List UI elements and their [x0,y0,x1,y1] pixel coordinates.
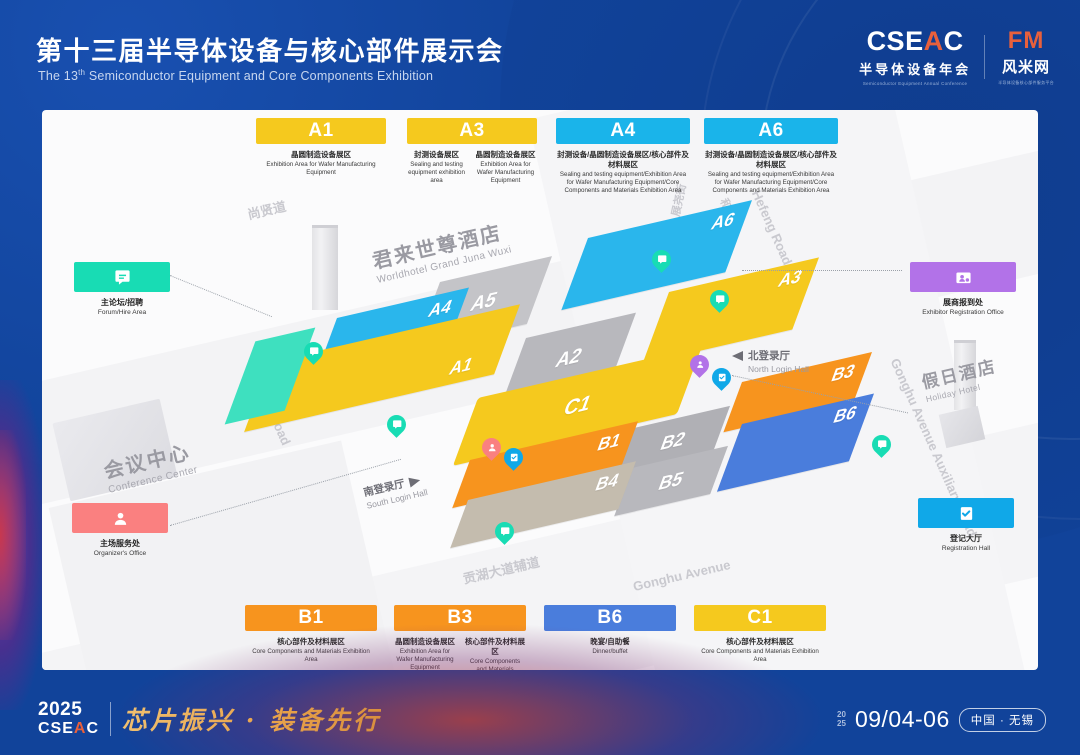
legend-chip-a6[interactable]: A6 封测设备/晶圆制造设备展区/核心部件及材料展区 Sealing and t… [704,118,838,195]
clipboard-check-icon [708,364,735,391]
facility-chip-organizer[interactable]: 主场服务处 Organizer's Office [72,503,168,557]
page-footer: 2025 CSEAC 芯片振兴 · 装备先行 20 25 09/04-06 中国… [0,670,1080,755]
speech-bubble-icon [491,518,518,545]
arrow-left-icon [732,351,743,361]
footer-year-brand: 2025 CSEAC [38,700,99,737]
map-pin-forum-a4[interactable] [304,342,323,367]
speech-bubble-icon [383,411,410,438]
page-header: 第十三届半导体设备与核心部件展示会 The 13th Semiconductor… [0,0,1080,108]
entry-north-login-hall: 北登录厅 North Login Hall [732,348,809,374]
legend-desc-group-a4: 封测设备/晶圆制造设备展区/核心部件及材料展区 Sealing and test… [556,150,690,195]
fm-logo: FM 风米网 半导体设备核心部件服务平台 [998,29,1054,86]
map-pin-forum-a6[interactable] [652,250,671,275]
road-label-shangxian: 尚贤道 [245,196,287,223]
hall-code: A2 [552,344,585,374]
map-pin-exhibitor-registration[interactable] [690,355,709,380]
fm-logo-cn: 风米网 [998,56,1054,77]
map-pin-registration-south[interactable] [504,448,523,473]
page-title-cn: 第十三届半导体设备与核心部件展示会 [36,31,504,68]
legend-desc-group-a1: 晶圆制造设备展区 Exhibition Area for Wafer Manuf… [256,150,386,177]
building-worldhotel [312,225,338,310]
cseac-logo-sub: Semiconductor Equipment Annual Conferenc… [859,81,971,86]
facility-chip-exhibitor[interactable]: 展商报到处 Exhibitor Registration Office [910,262,1016,316]
map-pin-forum-a3[interactable] [710,290,729,315]
legend-desc-en: Sealing and testing equipment/Exhibition… [557,171,689,195]
legend-desc-en: Exhibition Area for Wafer Manufacturing … [256,161,386,177]
fm-logo-sub: 半导体设备核心部件服务平台 [998,80,1054,86]
map-pin-forum-b1[interactable] [495,522,514,547]
connector-line-forum [170,275,272,317]
facility-en-exhibitor: Exhibitor Registration Office [910,309,1016,316]
footer-slogan: 芯片振兴 · 装备先行 [122,701,381,737]
cseac-mark-accent: A [924,26,944,56]
clipboard-check-icon [500,444,527,471]
cseac-logo: CSEAC 半导体设备年会 Semiconductor Equipment An… [859,28,971,86]
entry-en: North Login Hall [732,364,809,374]
map-pin-forum-b6[interactable] [872,435,891,460]
footer-brand: CSEAC [38,721,99,737]
legend-desc-en: Sealing and testing equipment/Exhibition… [705,171,837,195]
facility-icon-box-organizer [72,503,168,533]
hall-code: C1 [560,391,595,422]
exhibition-floor-plan-page: 第十三届半导体设备与核心部件展示会 The 13th Semiconductor… [0,0,1080,755]
legend-desc-a4-0: 封测设备/晶圆制造设备展区/核心部件及材料展区 Sealing and test… [557,150,689,195]
legend-desc-a6-0: 封测设备/晶圆制造设备展区/核心部件及材料展区 Sealing and test… [705,150,837,195]
legend-desc-en: Sealing and testing equipment exhibition… [407,161,466,185]
registration-icon [955,269,972,286]
legend-chip-a4[interactable]: A4 封测设备/晶圆制造设备展区/核心部件及材料展区 Sealing and t… [556,118,690,195]
legend-desc-cn: 晶圆制造设备展区 [474,150,537,160]
facility-cn-forum: 主论坛/招聘 [74,297,170,308]
facility-icon-box-exhibitor [910,262,1016,292]
legend-desc-a3-0: 封测设备展区 Sealing and testing equipment exh… [407,150,466,185]
legend-code-a4: A4 [556,118,690,144]
facility-chip-forum[interactable]: 主论坛/招聘 Forum/Hire Area [74,262,170,316]
speech-bubble-icon [706,286,733,313]
legend-desc-group-a3: 封测设备展区 Sealing and testing equipment exh… [407,150,537,185]
legend-chip-a1[interactable]: A1 晶圆制造设备展区 Exhibition Area for Wafer Ma… [256,118,386,177]
facility-icon-box-reg-hall [918,498,1014,528]
footer-divider [110,702,111,736]
legend-desc-cn: 封测设备/晶圆制造设备展区/核心部件及材料展区 [705,150,837,170]
cseac-mark-a: CSE [867,26,924,56]
footer-date-group: 20 25 09/04-06 中国 · 无锡 [837,706,1046,733]
facility-en-forum: Forum/Hire Area [74,309,170,316]
footer-brand-accent: A [74,720,87,737]
fm-wordmark: FM [998,29,1054,53]
speech-bubble-icon [648,246,675,273]
map-pin-organizer-office[interactable] [482,438,501,463]
speech-bubble-icon [114,269,131,286]
registration-icon [686,351,713,378]
speech-bubble-icon [300,338,327,365]
entry-cn: 北登录厅 [748,348,790,363]
facility-chip-registration-hall[interactable]: 登记大厅 Registration Hall [918,498,1014,552]
facility-cn-reg-hall: 登记大厅 [918,533,1014,544]
legend-code-a6: A6 [704,118,838,144]
footer-year-small: 20 25 [837,711,846,728]
place-cn: 君来世尊酒店 [369,215,510,274]
connector-line-exhibitor [742,270,902,271]
floor-plan-map[interactable]: 尚贤道 展尧街 Zhenze Road Hefeng Road 和风路 Gong… [42,110,1038,670]
logo-divider [984,35,985,79]
cseac-logo-cn: 半导体设备年会 [859,59,971,78]
legend-desc-group-a6: 封测设备/晶圆制造设备展区/核心部件及材料展区 Sealing and test… [704,150,838,195]
legend-chip-a3[interactable]: A3 封测设备展区 Sealing and testing equipment … [407,118,537,185]
background-edge-red [0,430,26,640]
entry-south-login-hall: 南登录厅 South Login Hall [362,471,429,510]
arrow-right-icon [408,475,421,487]
legend-desc-a3-1: 晶圆制造设备展区 Exhibition Area for Wafer Manuf… [474,150,537,185]
legend-code-a1: A1 [256,118,386,144]
footer-brand-a: CSE [38,720,74,737]
legend-code-a3: A3 [407,118,537,144]
hall-code: B2 [657,427,689,455]
legend-desc-cn: 封测设备展区 [407,150,466,160]
logo-group: CSEAC 半导体设备年会 Semiconductor Equipment An… [859,28,1054,86]
footer-year: 2025 [38,700,99,719]
speech-bubble-icon [868,431,895,458]
footer-city-badge: 中国 · 无锡 [959,708,1046,732]
cseac-wordmark: CSEAC [859,28,971,55]
footer-year-small-bottom: 25 [837,720,846,728]
clipboard-check-icon [958,505,975,522]
facility-en-reg-hall: Registration Hall [918,545,1014,552]
footer-brand-group: 2025 CSEAC 芯片振兴 · 装备先行 [38,700,381,737]
map-pin-forum-a1[interactable] [387,415,406,440]
cseac-mark-b: C [944,26,964,56]
facility-icon-box-forum [74,262,170,292]
map-pin-registration-north[interactable] [712,368,731,393]
legend-desc-a1-0: 晶圆制造设备展区 Exhibition Area for Wafer Manuf… [256,150,386,177]
legend-desc-cn: 封测设备/晶圆制造设备展区/核心部件及材料展区 [557,150,689,170]
footer-date: 09/04-06 [855,706,950,733]
legend-desc-en: Exhibition Area for Wafer Manufacturing … [474,161,537,185]
person-icon [112,510,129,527]
facility-cn-exhibitor: 展商报到处 [910,297,1016,308]
legend-desc-cn: 晶圆制造设备展区 [256,150,386,160]
hall-code: B5 [655,467,687,495]
person-icon [478,434,505,461]
title-en-pre: The 13 [38,69,78,83]
building-holiday-hotel [954,340,976,410]
footer-brand-b: C [86,720,99,737]
facility-cn-organizer: 主场服务处 [72,538,168,549]
page-title-en: The 13th Semiconductor Equipment and Cor… [38,68,433,83]
facility-en-organizer: Organizer's Office [72,550,168,557]
title-en-post: Semiconductor Equipment and Core Compone… [85,69,433,83]
